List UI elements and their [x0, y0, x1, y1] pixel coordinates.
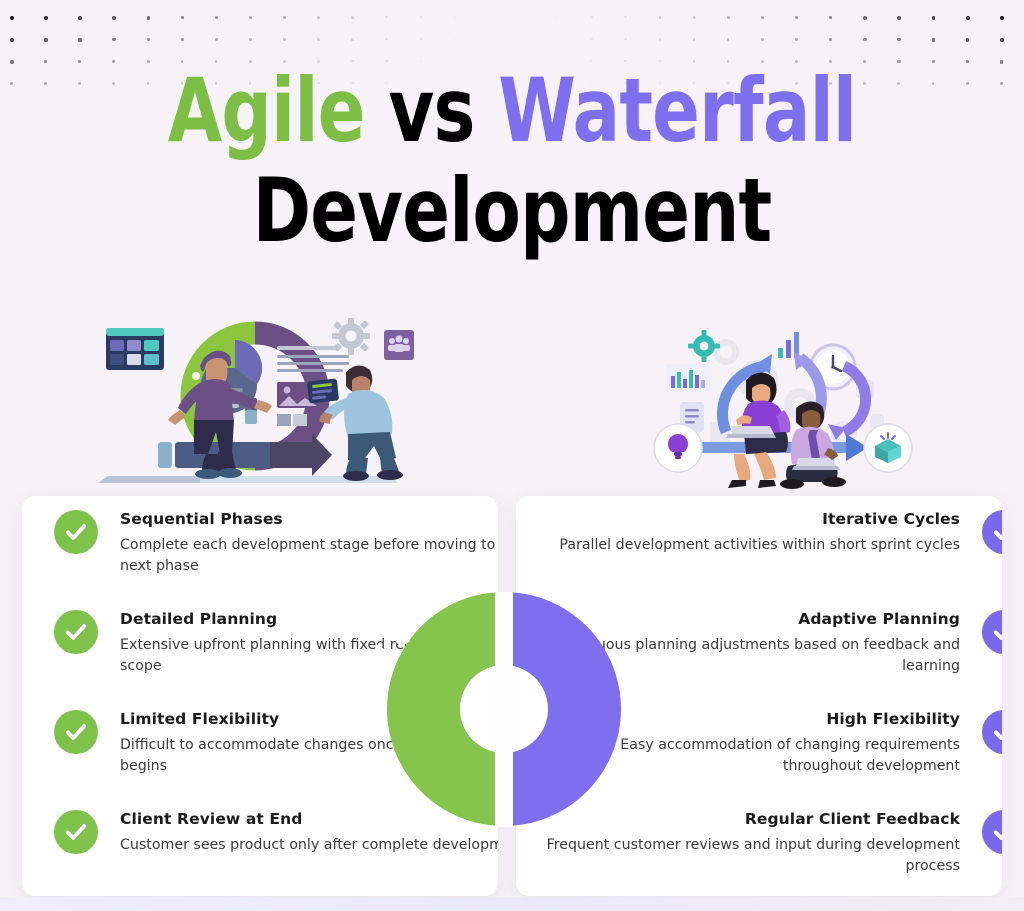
background-dot	[10, 60, 14, 64]
agile-arc-label: AGILE	[620, 653, 631, 754]
feature-item: Sequential Phases Complete each developm…	[22, 510, 498, 576]
agile-team-illustration	[648, 322, 928, 498]
background-dot	[932, 82, 935, 85]
background-dot	[966, 16, 970, 20]
background-dot	[44, 16, 48, 20]
background-dot	[556, 16, 558, 18]
background-dot	[147, 38, 150, 41]
background-dot	[385, 38, 387, 40]
background-dot	[1000, 38, 1004, 42]
background-dot	[78, 16, 82, 20]
background-dot	[1000, 16, 1004, 20]
feature-item: Iterative Cycles Parallel development ac…	[516, 510, 1002, 556]
background-dot	[659, 38, 662, 41]
background-dot	[966, 82, 969, 85]
background-dot	[863, 60, 866, 63]
background-dot	[420, 16, 422, 18]
background-dot	[795, 16, 798, 19]
background-dot	[932, 60, 935, 63]
background-dot	[385, 16, 387, 18]
background-dot	[897, 16, 901, 20]
background-dot	[283, 38, 286, 41]
background-dot	[966, 38, 970, 42]
background-dot	[624, 38, 626, 40]
background-dot	[420, 38, 422, 40]
background-dot	[351, 16, 354, 19]
title-word-vs: vs	[388, 59, 474, 162]
check-icon	[982, 710, 1002, 754]
background-dot	[454, 38, 456, 40]
background-dot	[10, 82, 13, 85]
background-dot	[215, 38, 218, 41]
background-dot	[317, 38, 320, 41]
background-dot	[761, 38, 764, 41]
center-split-badge: WATERFALL AGILE	[377, 592, 631, 827]
background-dot	[693, 16, 696, 19]
feature-description: Frequent customer reviews and input duri…	[540, 835, 960, 876]
background-dot	[795, 38, 798, 41]
background-dot	[454, 16, 456, 18]
background-dot	[863, 38, 866, 41]
infographic-root: Agile vs Waterfall Development	[0, 0, 1024, 911]
background-dot	[44, 82, 47, 85]
title-word-waterfall: Waterfall	[498, 59, 856, 162]
background-dot	[693, 38, 696, 41]
background-dot	[283, 16, 286, 19]
background-dot	[556, 38, 558, 40]
background-dot	[44, 38, 48, 42]
background-dot	[147, 16, 151, 20]
background-dot	[44, 60, 47, 63]
feature-description: Parallel development activities within s…	[540, 535, 960, 556]
title-word-agile: Agile	[168, 59, 365, 162]
check-icon	[54, 710, 98, 754]
check-icon	[54, 510, 98, 554]
background-dot	[932, 38, 936, 42]
feature-title: Sequential Phases	[120, 510, 498, 528]
background-dot	[829, 38, 832, 41]
background-dot	[897, 60, 900, 63]
background-dot	[761, 16, 764, 19]
check-icon	[982, 810, 1002, 854]
feature-description: Complete each development stage before m…	[120, 535, 498, 576]
background-dot	[78, 38, 82, 42]
svg-text:AGILE: AGILE	[620, 653, 631, 754]
background-dot	[727, 38, 730, 41]
background-dot	[112, 38, 115, 41]
background-dot	[249, 38, 252, 41]
background-dot	[829, 16, 832, 19]
feature-title: Iterative Cycles	[540, 510, 960, 528]
background-dot	[624, 16, 626, 18]
background-dot	[112, 16, 116, 20]
background-dot	[10, 38, 14, 42]
page-title: Agile vs Waterfall Development	[102, 68, 921, 254]
background-dot	[78, 82, 81, 85]
background-dot	[1000, 82, 1003, 85]
background-dot	[112, 60, 115, 63]
background-dot	[351, 38, 354, 41]
waterfall-team-illustration	[80, 318, 420, 488]
background-dot	[932, 16, 936, 20]
title-word-development: Development	[102, 168, 921, 254]
background-dot	[727, 16, 730, 19]
check-icon	[54, 810, 98, 854]
check-icon	[982, 510, 1002, 554]
background-dot	[659, 16, 662, 19]
bottom-accent-band	[0, 897, 1024, 911]
background-dot	[897, 38, 900, 41]
background-dot	[181, 16, 184, 19]
background-dot	[590, 16, 592, 18]
background-dot	[317, 16, 320, 19]
background-dot	[10, 16, 14, 20]
background-dot	[215, 16, 218, 19]
feature-description: Customer sees product only after complet…	[120, 835, 498, 856]
background-dot	[147, 60, 150, 63]
background-dot	[181, 38, 184, 41]
check-icon	[54, 610, 98, 654]
background-dot	[249, 16, 252, 19]
background-dot	[590, 38, 592, 40]
background-dot	[966, 60, 969, 63]
background-dot	[1000, 60, 1004, 64]
background-dot	[863, 16, 867, 20]
check-icon	[982, 610, 1002, 654]
background-dot	[78, 60, 81, 63]
